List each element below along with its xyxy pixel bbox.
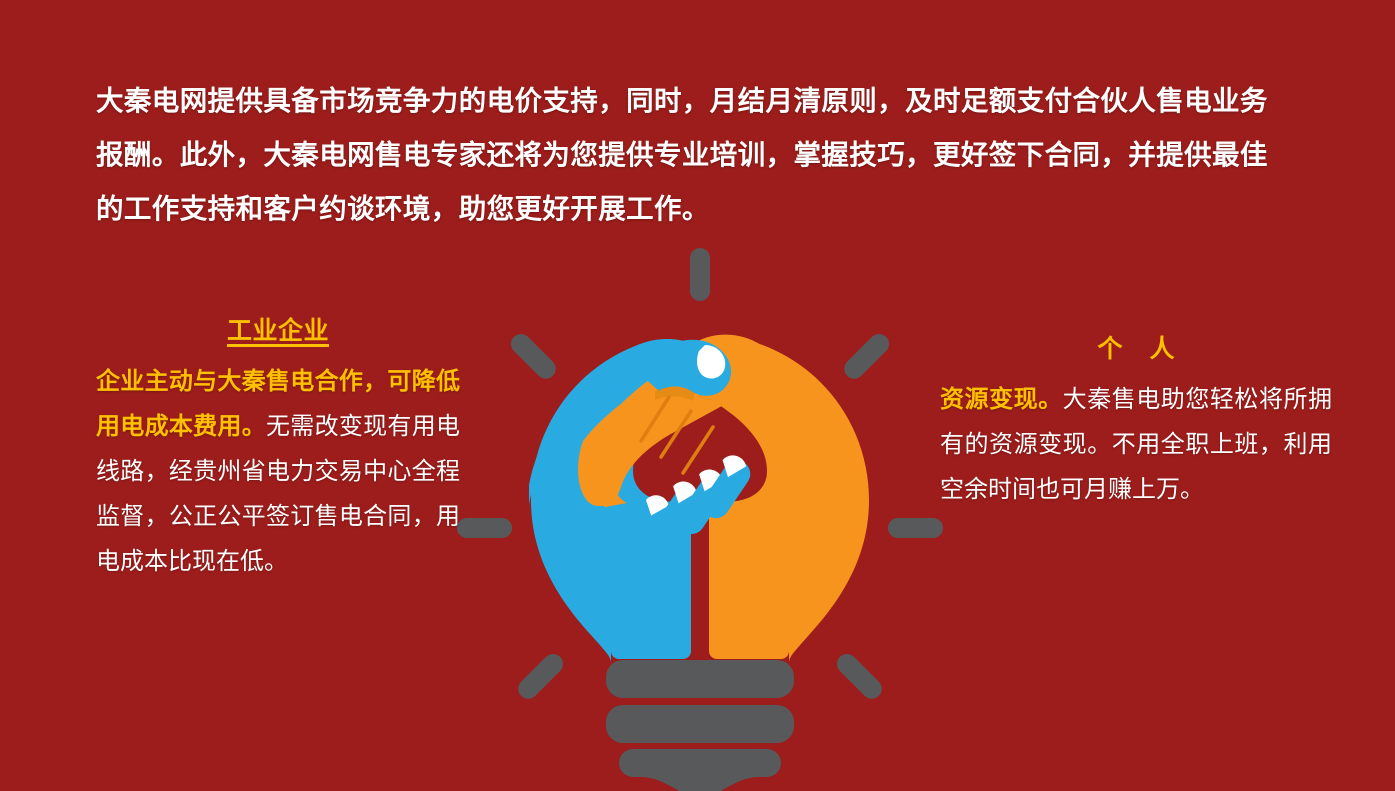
handshake-lightbulb-illustration [455,245,945,791]
base-ring-1 [606,660,794,698]
ray-upper-right [840,330,893,383]
column-right-title: 个 人 [940,334,1332,365]
ray-lower-right [833,650,886,703]
ray-right [888,518,943,538]
column-individual: 个 人 资源变现。大秦售电助您轻松将所拥有的资源变现。不用全职上班，利用空余时间… [940,334,1332,512]
base-tip [619,749,781,791]
ray-lower-left [514,650,567,703]
ray-upper-left [507,330,560,383]
left-arm-base-block [611,597,691,659]
right-arm-base-block [709,597,789,659]
column-right-highlight: 资源变现。 [940,386,1063,413]
bulb-base-group [606,660,794,791]
ray-left [457,518,512,538]
column-left-title: 工业企业 [96,316,460,347]
column-left-body: 企业主动与大秦售电合作，可降低用电成本费用。无需改变现有用电线路，经贵州省电力交… [96,359,460,584]
ray-top [690,248,710,301]
column-right-body: 资源变现。大秦售电助您轻松将所拥有的资源变现。不用全职上班，利用空余时间也可月赚… [940,377,1332,512]
base-ring-2 [606,705,794,743]
headline-paragraph: 大秦电网提供具备市场竞争力的电价支持，同时，月结月清原则，及时足额支付合伙人售电… [96,74,1286,236]
slide-canvas: 大秦电网提供具备市场竞争力的电价支持，同时，月结月清原则，及时足额支付合伙人售电… [0,0,1395,791]
column-industrial-enterprise: 工业企业 企业主动与大秦售电合作，可降低用电成本费用。无需改变现有用电线路，经贵… [96,316,460,584]
